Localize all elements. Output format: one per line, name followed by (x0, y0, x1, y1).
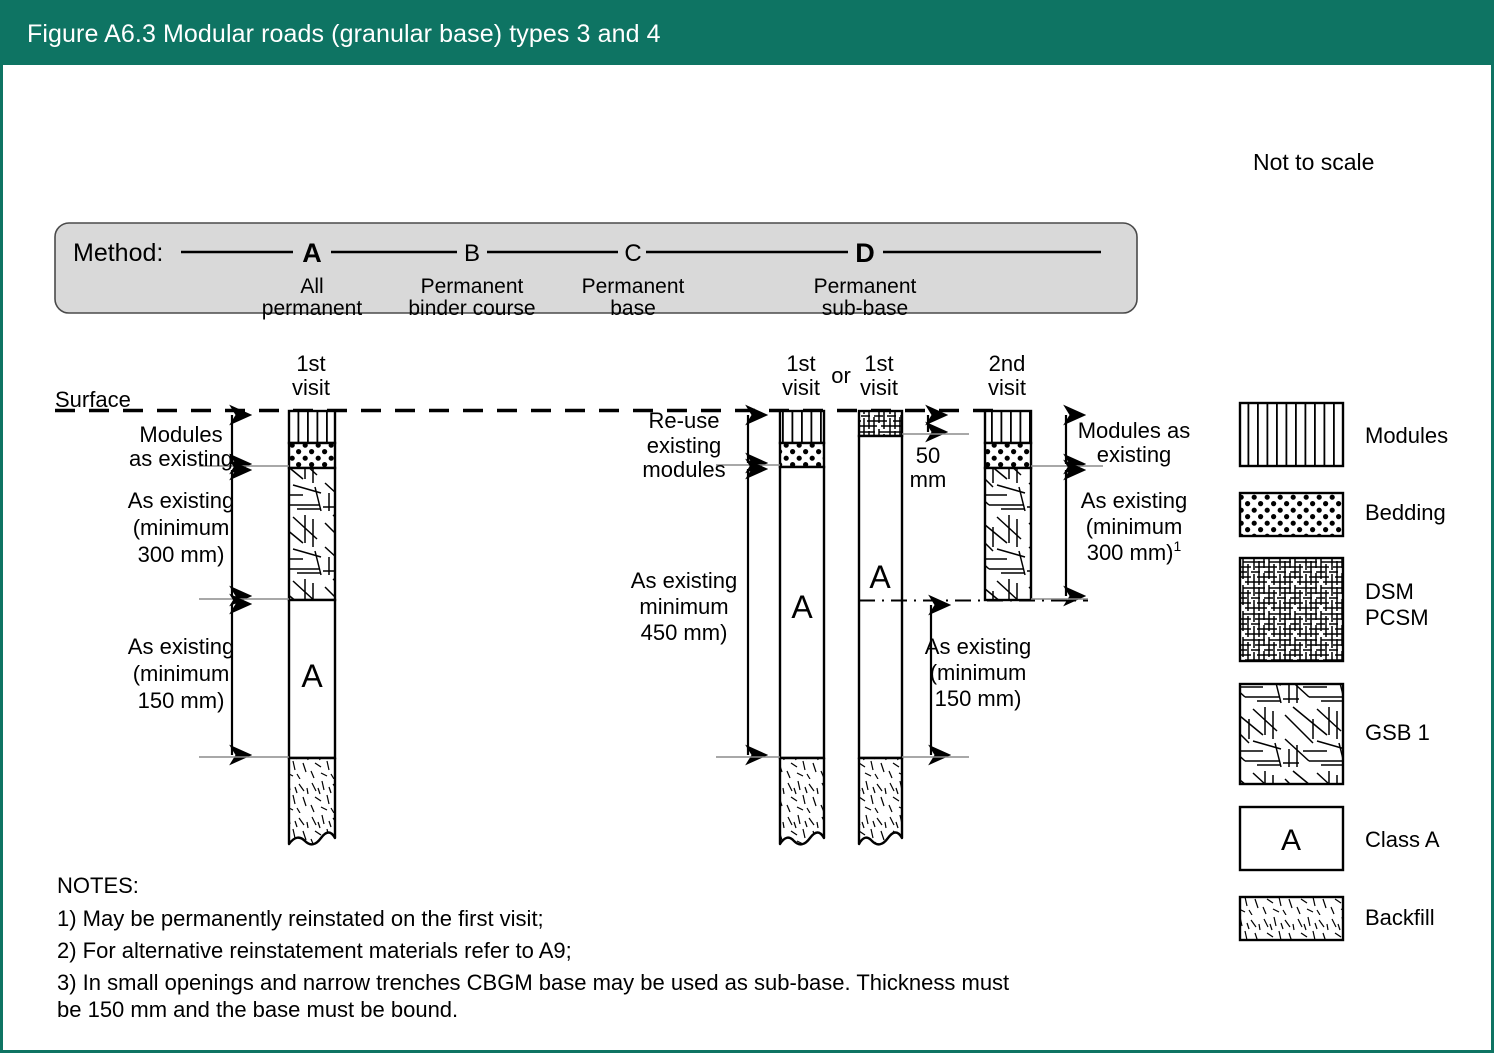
method-a-line2: permanent (262, 297, 363, 320)
layer-modules (985, 411, 1031, 443)
dim-left-300-line1: As existing (128, 488, 234, 513)
legend-swatch-modules (1240, 403, 1343, 466)
dim-right-150-line2: (minimum (930, 660, 1027, 685)
dim-mid-reuse-line1: Re-use (649, 408, 720, 433)
class-a-glyph: A (791, 589, 813, 625)
legend-swatch-gsb1 (1240, 684, 1343, 784)
dim-left-modules-line2: as existing (129, 446, 233, 471)
col-d1-title-1: 1st (864, 351, 893, 376)
figure-page: Figure A6.3 Modular roads (granular base… (0, 0, 1494, 1053)
legend-label-pcsm: PCSM (1365, 605, 1429, 630)
dim-right-modules: Modules as existing (1031, 415, 1190, 467)
dim-left-150-line1: As existing (128, 634, 234, 659)
legend-swatch-bedding (1240, 493, 1343, 536)
method-a-letter: A (302, 238, 322, 268)
dim-right-150: As existing (minimum 150 mm) (902, 605, 1031, 757)
col-a-title-2: visit (292, 375, 330, 400)
dim-mid-reuse-line3: modules (642, 457, 725, 482)
dim-left-300: As existing (minimum 300 mm) (128, 470, 289, 599)
method-d-line1: Permanent (814, 275, 917, 298)
layer-bedding (780, 443, 824, 467)
layer-gsb1 (289, 468, 335, 600)
note-item-1: 1) May be permanently reinstated on the … (57, 906, 544, 931)
layer-backfill (859, 758, 902, 844)
dim-mid-450-line1: As existing (631, 568, 737, 593)
col-d2-title-1: 2nd (989, 351, 1026, 376)
legend-label-modules: Modules (1365, 423, 1448, 448)
method-b-line2: binder course (408, 297, 535, 320)
dim-50mm-line1: 50 (916, 443, 940, 468)
dim-right-150-line1: As existing (925, 634, 1031, 659)
legend-swatch-backfill (1240, 897, 1343, 940)
dim-left-150-line2: (minimum (133, 661, 230, 686)
col-d2-title-2: visit (988, 375, 1026, 400)
dim-right-300-line3: 300 mm) (1087, 540, 1174, 565)
method-bar-label: Method: (73, 239, 163, 267)
dim-mid-50mm: 50 mm (902, 415, 969, 492)
dim-left-modules-line1: Modules (139, 422, 222, 447)
dim-right-modules-line1: Modules as (1078, 418, 1191, 443)
legend-item-gsb1: GSB 1 (1240, 684, 1430, 784)
col-d1-title-2: visit (860, 375, 898, 400)
dim-mid-450-line2: minimum (639, 594, 728, 619)
not-to-scale-label: Not to scale (1253, 149, 1374, 175)
legend-label-dsm: DSM (1365, 579, 1414, 604)
method-b-line1: Permanent (421, 275, 524, 298)
dim-mid-450-line3: 450 mm) (641, 620, 728, 645)
dim-mid-450: As existing minimum 450 mm) (631, 469, 780, 757)
dim-right-300-line1: As existing (1081, 488, 1187, 513)
page-title: Figure A6.3 Modular roads (granular base… (3, 20, 661, 49)
section-col-a-1st-visit: A (289, 411, 335, 844)
layer-modules (780, 411, 824, 443)
legend-label-class-a: Class A (1365, 827, 1440, 852)
layer-dsm-pcsm (859, 411, 902, 436)
class-a-glyph: A (301, 658, 323, 694)
notes-heading: NOTES: (57, 873, 139, 898)
method-bar: Method: A All permanent B Permanent bind… (55, 223, 1137, 320)
dim-right-modules-line2: existing (1097, 442, 1172, 467)
dim-mid-reuse: Re-use existing modules (642, 408, 780, 482)
legend-item-backfill: Backfill (1240, 897, 1435, 940)
layer-gsb1 (985, 468, 1031, 600)
notes-block: NOTES: 1) May be permanently reinstated … (57, 873, 1009, 1022)
legend-swatch-dsm-pcsm (1240, 558, 1343, 661)
note-item-2: 2) For alternative reinstatement materia… (57, 938, 572, 963)
dim-left-300-line2: (minimum (133, 515, 230, 540)
note-item-3: 3) In small openings and narrow trenches… (57, 970, 1009, 995)
dim-mid-reuse-line2: existing (647, 433, 722, 458)
legend-item-bedding: Bedding (1240, 493, 1446, 536)
method-d-line2: sub-base (822, 297, 908, 320)
layer-modules (289, 411, 335, 443)
method-c-line2: base (610, 297, 656, 320)
dim-right-300-line3-group: 300 mm)1 (1087, 538, 1182, 565)
or-label: or (831, 363, 851, 388)
legend-item-class-a: A Class A (1240, 807, 1440, 870)
dim-left-150-line3: 150 mm) (138, 688, 225, 713)
method-d-letter: D (855, 238, 875, 268)
dim-right-150-line3: 150 mm) (935, 686, 1022, 711)
col-c-title-2: visit (782, 375, 820, 400)
method-c-line1: Permanent (582, 275, 685, 298)
section-col-c-1st-visit: A (780, 411, 824, 844)
section-col-d-2nd-visit (985, 411, 1031, 600)
col-a-title-1: 1st (296, 351, 325, 376)
dim-left-150: As existing (minimum 150 mm) (128, 604, 289, 757)
column-titles: 1st visit 1st visit or 1st visit 2nd vis… (292, 351, 1026, 400)
surface-label: Surface (55, 387, 131, 412)
legend-label-backfill: Backfill (1365, 905, 1435, 930)
method-c-letter: C (624, 240, 641, 267)
dim-right-300: As existing (minimum 300 mm)1 (1031, 470, 1187, 599)
method-a-line1: All (300, 275, 323, 298)
method-b-letter: B (464, 240, 480, 267)
section-col-d-1st-visit: A (859, 411, 902, 844)
figure-header-bar: Figure A6.3 Modular roads (granular base… (3, 3, 1494, 65)
dim-right-300-line2: (minimum (1086, 514, 1183, 539)
figure-canvas: Not to scale Method: A All permanent B (3, 65, 1491, 1053)
layer-bedding (985, 443, 1031, 468)
legend-swatch-class-a-glyph: A (1281, 824, 1301, 857)
layer-backfill (780, 758, 824, 844)
dim-left-300-line3: 300 mm) (138, 542, 225, 567)
legend-item-modules: Modules (1240, 403, 1448, 466)
col-c-title-1: 1st (786, 351, 815, 376)
dim-right-300-superscript: 1 (1174, 538, 1182, 554)
class-a-glyph: A (869, 559, 891, 595)
layer-backfill (289, 758, 335, 844)
dim-50mm-line2: mm (910, 467, 947, 492)
legend: Modules Bedding DSM PCSM GSB 1 A (1240, 403, 1448, 940)
note-item-3-cont: be 150 mm and the base must be bound. (57, 997, 458, 1022)
dim-left-modules: Modules as existing (129, 415, 289, 471)
legend-item-dsm-pcsm: DSM PCSM (1240, 558, 1429, 661)
layer-bedding (289, 443, 335, 468)
legend-label-gsb1: GSB 1 (1365, 720, 1430, 745)
layer-class-a (859, 436, 902, 758)
legend-label-bedding: Bedding (1365, 500, 1446, 525)
